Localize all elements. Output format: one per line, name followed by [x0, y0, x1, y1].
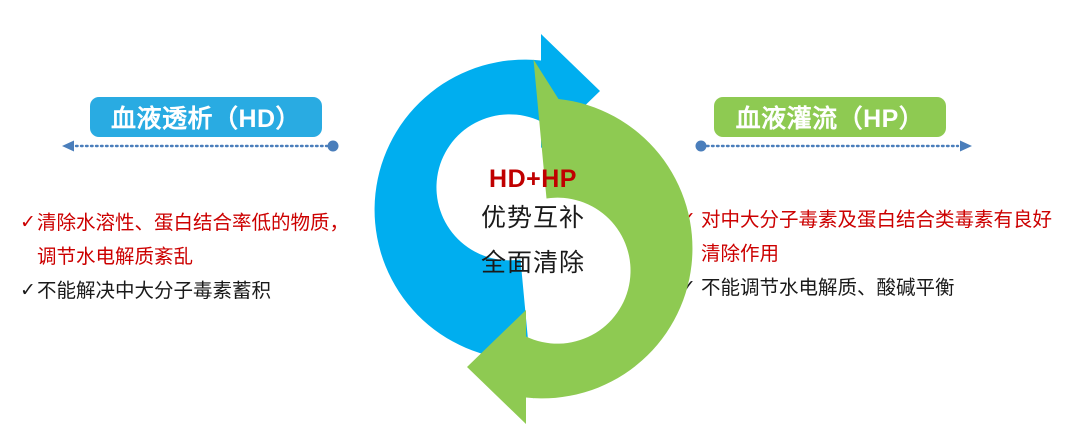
list-item-label: 对中大分子毒素及蛋白结合类毒素有良好清除作用: [701, 203, 1070, 271]
cycle-line-2: 全面清除: [433, 241, 633, 286]
check-icon: ✓: [20, 206, 37, 240]
list-item: ✓ 对中大分子毒素及蛋白结合类毒素有良好清除作用: [680, 203, 1070, 271]
badge-hemodialysis: 血液透析（HD）: [90, 97, 322, 137]
connector-rule-left: [62, 139, 340, 153]
check-icon: ✓: [20, 274, 37, 308]
endpoint-dot-icon: [328, 141, 339, 152]
bullet-list-hemodialysis: ✓ 清除水溶性、蛋白结合率低的物质，调节水电解质紊乱 ✓ 不能解决中大分子毒素蓄…: [20, 206, 365, 308]
arrowhead-left-icon: [62, 141, 74, 152]
connector-rule-right: [694, 139, 972, 153]
list-item-label: 不能解决中大分子毒素蓄积: [37, 274, 365, 308]
list-item: ✓ 不能解决中大分子毒素蓄积: [20, 274, 365, 308]
bullet-list-hemoperfusion: ✓ 对中大分子毒素及蛋白结合类毒素有良好清除作用 ✓ 不能调节水电解质、酸碱平衡: [680, 203, 1070, 305]
cycle-title: HD+HP: [433, 162, 633, 196]
list-item: ✓ 清除水溶性、蛋白结合率低的物质，调节水电解质紊乱: [20, 206, 365, 274]
cycle-line-1: 优势互补: [433, 196, 633, 241]
cycle-center-text: HD+HP 优势互补 全面清除: [433, 162, 633, 286]
list-item-label: 不能调节水电解质、酸碱平衡: [701, 271, 1070, 305]
badge-hemoperfusion: 血液灌流（HP）: [714, 97, 946, 137]
slide-canvas: 血液透析（HD） ✓ 清除水溶性、蛋白结合率低的物质，调节水电解质紊乱 ✓ 不能…: [0, 0, 1080, 447]
list-item: ✓ 不能调节水电解质、酸碱平衡: [680, 271, 1070, 305]
arrowhead-right-icon: [960, 141, 972, 152]
list-item-label: 清除水溶性、蛋白结合率低的物质，调节水电解质紊乱: [37, 206, 365, 274]
